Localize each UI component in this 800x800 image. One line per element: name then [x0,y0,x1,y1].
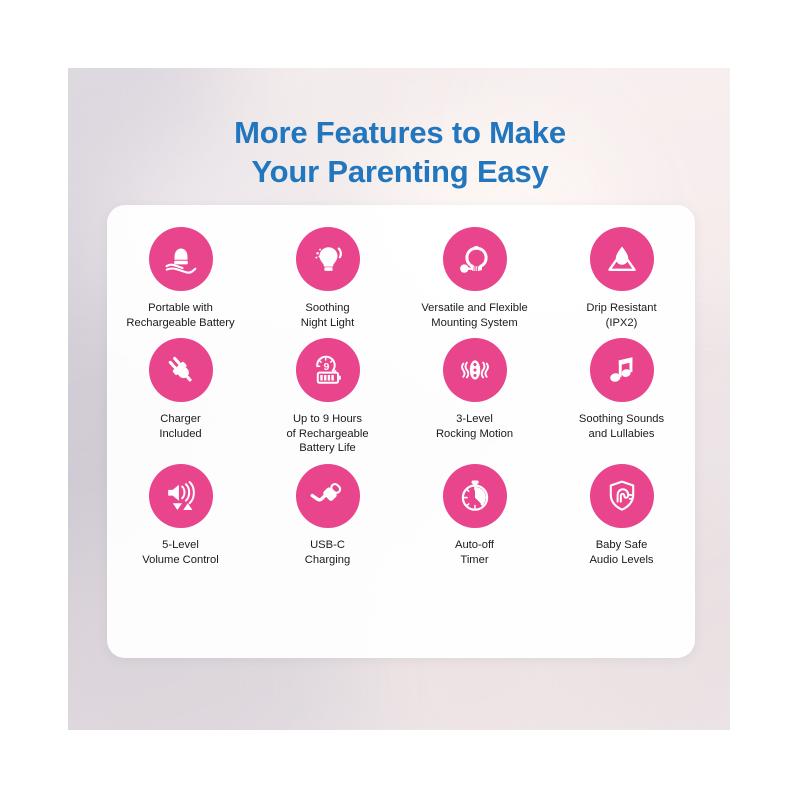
feature-label: Drip Resistant (IPX2) [586,301,656,330]
feature-item-usb-c: USB-C Charging [254,464,401,567]
feature-label: Auto-off Timer [455,538,494,567]
feature-item-battery-life: 9 Up to 9 Hours of Rechargeable Battery … [254,338,401,456]
water-drop-resistant-icon [590,227,654,291]
light-bulb-icon [296,227,360,291]
feature-label: 3-Level Rocking Motion [436,412,513,441]
feature-item-sounds: Soothing Sounds and Lullabies [548,338,695,456]
feature-card: Portable with Rechargeable Battery Sooth… [107,205,695,658]
usb-c-cable-icon [296,464,360,528]
rocking-vibration-icon [443,338,507,402]
feature-item-mounting: Versatile and Flexible Mounting System [401,227,548,330]
shield-ear-icon [590,464,654,528]
feature-label: Soothing Sounds and Lullabies [579,412,664,441]
battery-9-hours-icon: 9 [296,338,360,402]
feature-item-rocking-motion: 3-Level Rocking Motion [401,338,548,456]
page-title: More Features to Make Your Parenting Eas… [0,113,800,191]
flexible-mount-clamp-icon [443,227,507,291]
feature-item-charger: Charger Included [107,338,254,456]
feature-label: Baby Safe Audio Levels [589,538,653,567]
feature-item-volume-control: 5-Level Volume Control [107,464,254,567]
feature-item-portable: Portable with Rechargeable Battery [107,227,254,330]
feature-label: Versatile and Flexible Mounting System [421,301,527,330]
feature-item-baby-safe-audio: Baby Safe Audio Levels [548,464,695,567]
promo-banner: More Features to Make Your Parenting Eas… [0,0,800,800]
stopwatch-timer-icon [443,464,507,528]
page-title-line-2: Your Parenting Easy [0,152,800,191]
music-note-icon [590,338,654,402]
battery-hours-number: 9 [323,361,329,373]
feature-item-auto-off-timer: Auto-off Timer [401,464,548,567]
volume-speaker-icon [149,464,213,528]
feature-item-night-light: Soothing Night Light [254,227,401,330]
feature-label: Charger Included [159,412,201,441]
feature-label: Soothing Night Light [301,301,355,330]
feature-grid: Portable with Rechargeable Battery Sooth… [107,227,695,567]
power-plug-icon [149,338,213,402]
feature-item-drip-resistant: Drip Resistant (IPX2) [548,227,695,330]
feature-label: Portable with Rechargeable Battery [126,301,234,330]
feature-label: Up to 9 Hours of Rechargeable Battery Li… [286,412,368,456]
page-title-line-1: More Features to Make [0,113,800,152]
feature-label: 5-Level Volume Control [142,538,219,567]
portable-hand-device-icon [149,227,213,291]
feature-label: USB-C Charging [305,538,350,567]
